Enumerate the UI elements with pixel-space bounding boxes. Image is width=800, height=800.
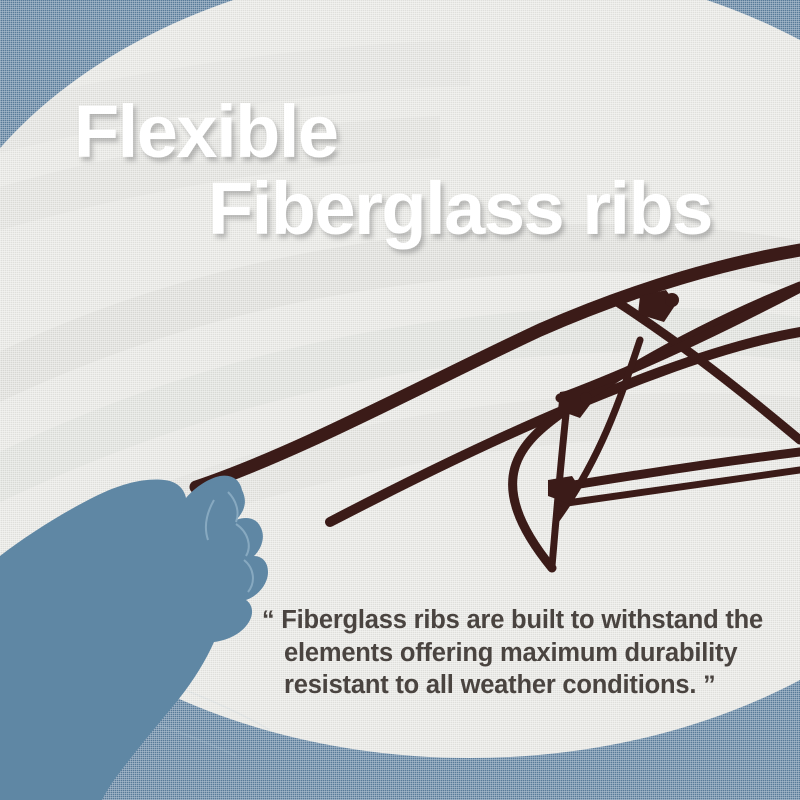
- quote-close-mark: ”: [703, 671, 715, 699]
- quote-line-2: elements offering maximum durability: [262, 637, 782, 669]
- hand-shape: [0, 476, 268, 800]
- quote-line-1: Fiberglass ribs are built to withstand t…: [281, 606, 763, 634]
- headline-line-1: Flexible: [0, 96, 760, 167]
- headline-block: Flexible Fiberglass ribs: [0, 96, 780, 244]
- quote-open-mark: “: [262, 606, 274, 634]
- quote-line-3-text: resistant to all weather conditions.: [284, 671, 696, 699]
- poster-canvas: Flexible Fiberglass ribs “ Fiberglass ri…: [0, 0, 800, 800]
- quote-paragraph: “ Fiberglass ribs are built to withstand…: [262, 604, 782, 701]
- quote-block: “ Fiberglass ribs are built to withstand…: [262, 604, 782, 701]
- quote-line-3: resistant to all weather conditions. ”: [262, 669, 782, 702]
- headline-line-2: Fiberglass ribs: [0, 173, 760, 244]
